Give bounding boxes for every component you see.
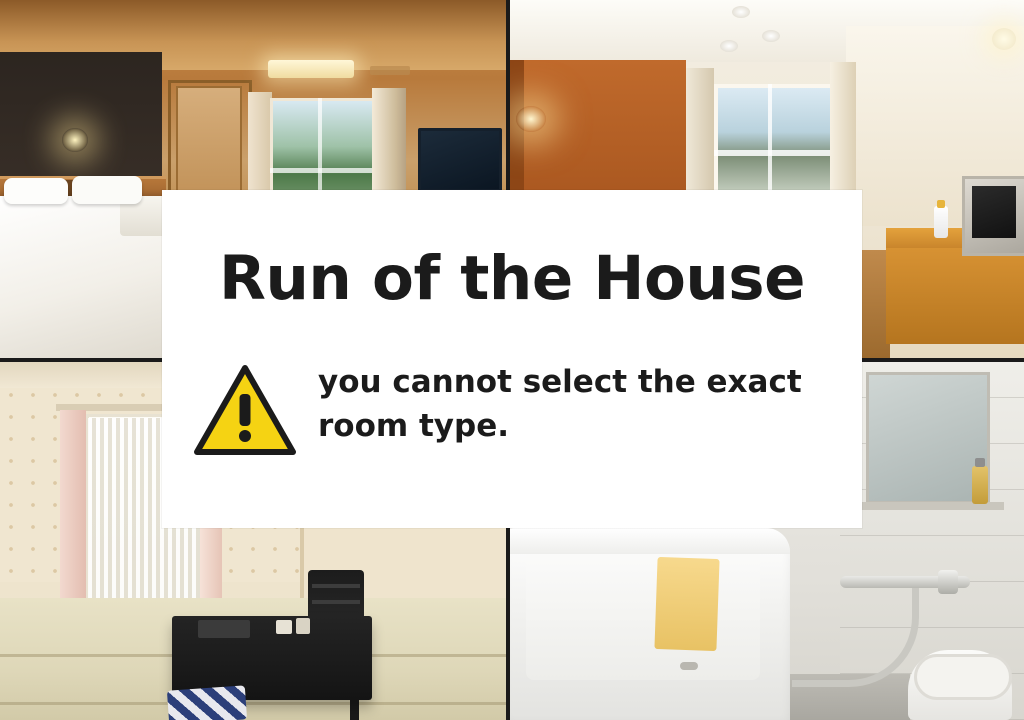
tatami-seam — [0, 702, 506, 705]
television — [418, 128, 502, 192]
tea-cup — [276, 620, 292, 634]
banner-body: you cannot select the exact room type. — [194, 360, 834, 456]
amenity-bottle — [934, 206, 948, 238]
ceiling-vent — [370, 66, 410, 75]
bathtub-drain — [680, 662, 698, 670]
wall-lamp-icon — [516, 106, 546, 132]
wall-lamp-icon — [62, 128, 88, 152]
ceiling-spotlight — [720, 40, 738, 52]
floor-cushion — [167, 685, 247, 720]
desk-front — [886, 248, 1024, 344]
banner-warning-text: you cannot select the exact room type. — [318, 360, 834, 448]
ceiling-light — [268, 60, 354, 78]
faucet-knob — [938, 570, 958, 594]
window — [714, 84, 842, 202]
bathtub-basin — [526, 550, 760, 680]
wall-sconce-icon — [992, 28, 1016, 50]
window-mullion — [768, 84, 772, 194]
pillow — [72, 176, 142, 204]
ceiling-spotlight — [762, 30, 780, 42]
warning-triangle-icon — [194, 364, 296, 456]
yellow-towel — [654, 557, 719, 651]
window-rail — [714, 150, 834, 156]
toilet-seat — [914, 654, 1012, 700]
shampoo-bottle — [972, 466, 988, 504]
chair-slat — [312, 584, 360, 588]
ceiling-spotlight — [732, 6, 750, 18]
pillow — [4, 178, 68, 204]
tea-cup — [296, 618, 310, 634]
bathtub-rim — [510, 528, 790, 554]
shampoo-bottle-cap — [975, 458, 985, 467]
chair-slat — [312, 600, 360, 604]
television-screen — [972, 186, 1016, 238]
tray — [198, 620, 250, 638]
banner-title: Run of the House — [162, 248, 862, 309]
amenity-bottle-cap — [937, 200, 945, 208]
window-rail — [270, 168, 374, 173]
photo-collage: Run of the House you cannot select the e… — [0, 0, 1024, 720]
run-of-the-house-banner: Run of the House you cannot select the e… — [162, 190, 862, 528]
